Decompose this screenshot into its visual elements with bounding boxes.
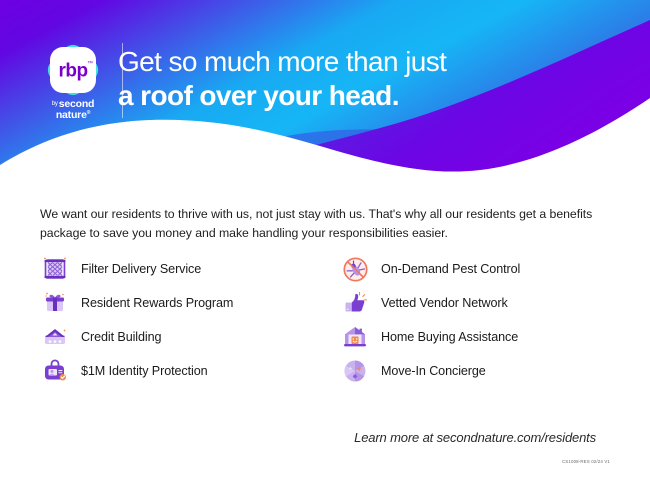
logo-block: rbp ™ bysecond nature® [37, 42, 109, 116]
logo-by-text: by [52, 101, 58, 107]
air-filter-icon [40, 254, 70, 284]
rbp-logo-icon: rbp ™ [45, 42, 101, 98]
logo-brand-line2: nature [56, 109, 87, 121]
house-icon [340, 322, 370, 352]
benefit-item-home-buying-assistance: Home Buying Assistance [340, 320, 630, 354]
headline-line-2: a roof over your head. [118, 79, 588, 112]
identity-lock-icon [40, 356, 70, 386]
benefits-column-left: Filter Delivery Service Resident [40, 252, 330, 388]
benefit-item-vetted-vendor-network: Vetted Vendor Network [340, 286, 630, 320]
logo-brand-tm: ® [87, 110, 90, 116]
rbp-logo-wordmark: rbp [58, 61, 87, 82]
rbp-logo-shape: rbp ™ [45, 42, 101, 98]
benefit-item-move-in-concierge: Move-In Concierge [340, 354, 630, 388]
benefit-label: $1M Identity Protection [81, 364, 208, 378]
benefit-item-identity-protection: $1M Identity Protection [40, 354, 330, 388]
gift-box-icon [40, 288, 70, 318]
benefit-label: On-Demand Pest Control [381, 262, 520, 276]
benefit-label: Filter Delivery Service [81, 262, 201, 276]
benefit-label: Vetted Vendor Network [381, 296, 508, 310]
header-banner: rbp ™ bysecond nature® Get so much more … [0, 0, 650, 190]
headline-line-1: Get so much more than just [118, 45, 588, 78]
document-code: CS1008-RES 02/24 V1 [562, 459, 610, 464]
benefit-label: Move-In Concierge [381, 364, 486, 378]
concierge-compass-icon [340, 356, 370, 386]
logo-brand-text: bysecond nature® [52, 99, 95, 120]
benefit-item-credit-building: Credit Building [40, 320, 330, 354]
thumbs-up-icon [340, 288, 370, 318]
benefit-item-resident-rewards-program: Resident Rewards Program [40, 286, 330, 320]
benefit-label: Home Buying Assistance [381, 330, 518, 344]
benefit-label: Credit Building [81, 330, 161, 344]
benefit-item-on-demand-pest-control: On-Demand Pest Control [340, 252, 630, 286]
credit-rating-icon [40, 322, 70, 352]
headline: Get so much more than just a roof over y… [118, 45, 588, 112]
no-pest-icon [340, 254, 370, 284]
benefit-label: Resident Rewards Program [81, 296, 233, 310]
rbp-logo-tm: ™ [87, 60, 93, 67]
benefit-item-filter-delivery-service: Filter Delivery Service [40, 252, 330, 286]
benefits-column-right: On-Demand Pest Control Vetted Vendor Net… [340, 252, 630, 388]
intro-paragraph: We want our residents to thrive with us,… [40, 205, 596, 242]
learn-more-link[interactable]: Learn more at secondnature.com/residents [354, 430, 596, 445]
rbp-benefits-flyer: rbp ™ bysecond nature® Get so much more … [0, 0, 650, 488]
